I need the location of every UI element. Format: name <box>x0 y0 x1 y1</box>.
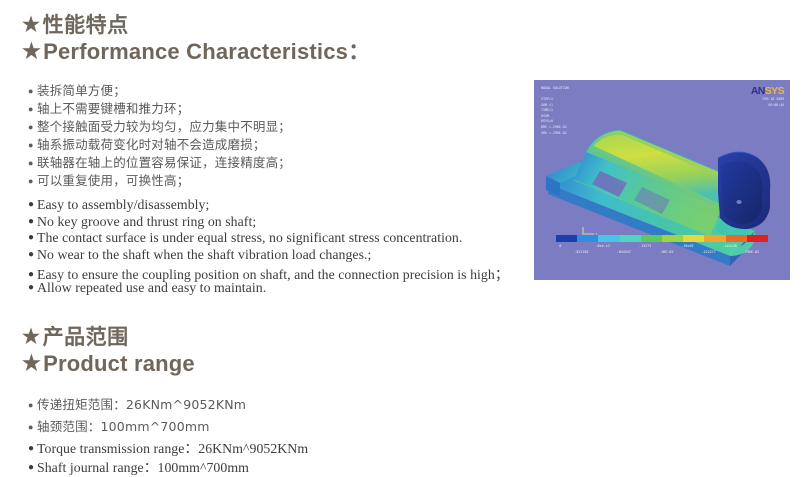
ansys-logo-suffix: SYS <box>765 85 784 97</box>
list-item: ●Easy to assembly/disassembly; <box>28 197 509 214</box>
star-icon: ★ <box>22 40 41 64</box>
bullet-icon: ● <box>28 283 37 293</box>
bullet-icon: ● <box>28 159 37 168</box>
colorbar-tick-label: .212277 <box>701 250 715 254</box>
colorbar-swatch <box>726 235 747 242</box>
bullet-icon: ● <box>28 401 37 410</box>
performance-heading-en: ★Performance Characteristics： <box>22 40 370 65</box>
ansys-fea-figure: NODAL SOLUTION STEP=1 SUB =1 TIME=1 USUM… <box>534 80 790 280</box>
performance-bullets-cn: ●装拆简单方便； ●轴上不需要键槽和推力环； ●整个接触面受力较为均匀，应力集中… <box>28 80 291 188</box>
list-item: ●Easy to ensure the coupling position on… <box>28 263 509 280</box>
product-range-heading-cn-text: 产品范围 <box>43 326 129 349</box>
bullet-icon: ● <box>28 105 37 114</box>
star-icon: ★ <box>22 326 41 349</box>
bullet-icon: ● <box>28 87 37 96</box>
colorbar-swatch <box>620 235 641 242</box>
colorbar-tick-label: 0 <box>559 244 561 248</box>
list-item: ●装拆简单方便； <box>28 80 291 98</box>
colorbar-tick-label: .821182 <box>574 250 588 254</box>
bullet-icon: ● <box>28 233 37 243</box>
list-item: ●联轴器在轴上的位置容易保证，连接精度高； <box>28 152 291 170</box>
bullet-icon: ● <box>28 123 37 132</box>
bullet-icon: ● <box>28 270 37 280</box>
bullet-icon: ● <box>28 200 37 210</box>
list-item: ●轴颈范围：100mm^700mm <box>28 416 246 438</box>
bullet-icon: ● <box>28 250 37 260</box>
colorbar-tick-label: .296E-02 <box>743 250 759 254</box>
performance-bullets-en: ●Easy to assembly/disassembly; ●No key g… <box>28 197 509 296</box>
list-item: ●Torque transmission range：26KNm^9052KNm <box>28 437 308 456</box>
colorbar-tick-label: .13273 <box>639 244 651 248</box>
fea-header-annotation: NODAL SOLUTION STEP=1 SUB =1 TIME=1 USUM… <box>541 86 569 136</box>
product-range-bullets-cn: ●传递扭矩范围：26KNm^9052KNm ●轴颈范围：100mm^700mm <box>28 394 246 438</box>
bullet-icon: ● <box>28 217 37 227</box>
bullet-icon: ● <box>28 141 37 150</box>
star-icon: ★ <box>22 14 41 37</box>
product-range-heading-cn: ★产品范围 <box>22 326 195 350</box>
colorbar-swatch <box>662 235 683 242</box>
colorbar-swatch <box>747 235 768 242</box>
stress-colorbar: 0.8xe-x3.13273.18x05.2x5x38.821182.84454… <box>556 235 768 258</box>
colorbar-swatch <box>556 235 577 242</box>
colorbar-tick-label: .8xe-x3 <box>595 244 609 248</box>
list-item: ●轴上不需要键槽和推力环； <box>28 98 291 116</box>
colorbar-swatch <box>704 235 725 242</box>
product-range-heading-en-text: Product range <box>43 351 195 376</box>
bullet-icon: ● <box>28 463 37 473</box>
product-range-heading-block: ★产品范围 ★Product range <box>22 326 195 376</box>
star-icon: ★ <box>22 352 41 376</box>
ansys-logo: ANSYS <box>751 85 784 97</box>
list-item: ●整个接触面受力较为均匀，应力集中不明显； <box>28 116 291 134</box>
colorbar-tick-label: .18x05 <box>681 244 693 248</box>
performance-heading-cn: ★性能特点 <box>22 14 370 38</box>
list-item: ●No key groove and thrust ring on shaft; <box>28 214 509 231</box>
fea-date-annotation: FEB 18 2009 09:08:44 <box>762 97 784 108</box>
colorbar-swatch <box>577 235 598 242</box>
list-item: ●传递扭矩范围：26KNm^9052KNm <box>28 394 246 416</box>
ansys-logo-prefix: AN <box>751 85 765 97</box>
list-item: ●The contact surface is under equal stre… <box>28 230 509 247</box>
product-range-bullets-en: ●Torque transmission range：26KNm^9052KNm… <box>28 437 308 475</box>
performance-heading-en-text: Performance Characteristics： <box>43 39 370 64</box>
bullet-icon: ● <box>28 423 37 432</box>
bullet-icon: ● <box>28 177 37 186</box>
product-range-heading-en: ★Product range <box>22 352 195 377</box>
colorbar-swatches <box>556 235 768 242</box>
colorbar-tick-label: .844547 <box>617 250 631 254</box>
list-item: ●轴系振动载荷变化时对轴不会造成磨损； <box>28 134 291 152</box>
performance-heading-cn-text: 性能特点 <box>43 14 129 37</box>
performance-heading-block: ★性能特点 ★Performance Characteristics： <box>22 14 370 64</box>
list-item: ●可以重复使用，可换性高； <box>28 170 291 188</box>
colorbar-tick-label: .2x5x38 <box>723 244 737 248</box>
colorbar-tick-label: .16E-02 <box>659 250 673 254</box>
colorbar-swatch <box>598 235 619 242</box>
colorbar-labels: 0.8xe-x3.13273.18x05.2x5x38.821182.84454… <box>556 242 768 258</box>
list-item: ●No wear to the shaft when the shaft vib… <box>28 247 509 264</box>
colorbar-swatch <box>683 235 704 242</box>
bullet-icon: ● <box>28 444 37 454</box>
colorbar-swatch <box>641 235 662 242</box>
list-item: ●Shaft journal range：100mm^700mm <box>28 456 308 475</box>
